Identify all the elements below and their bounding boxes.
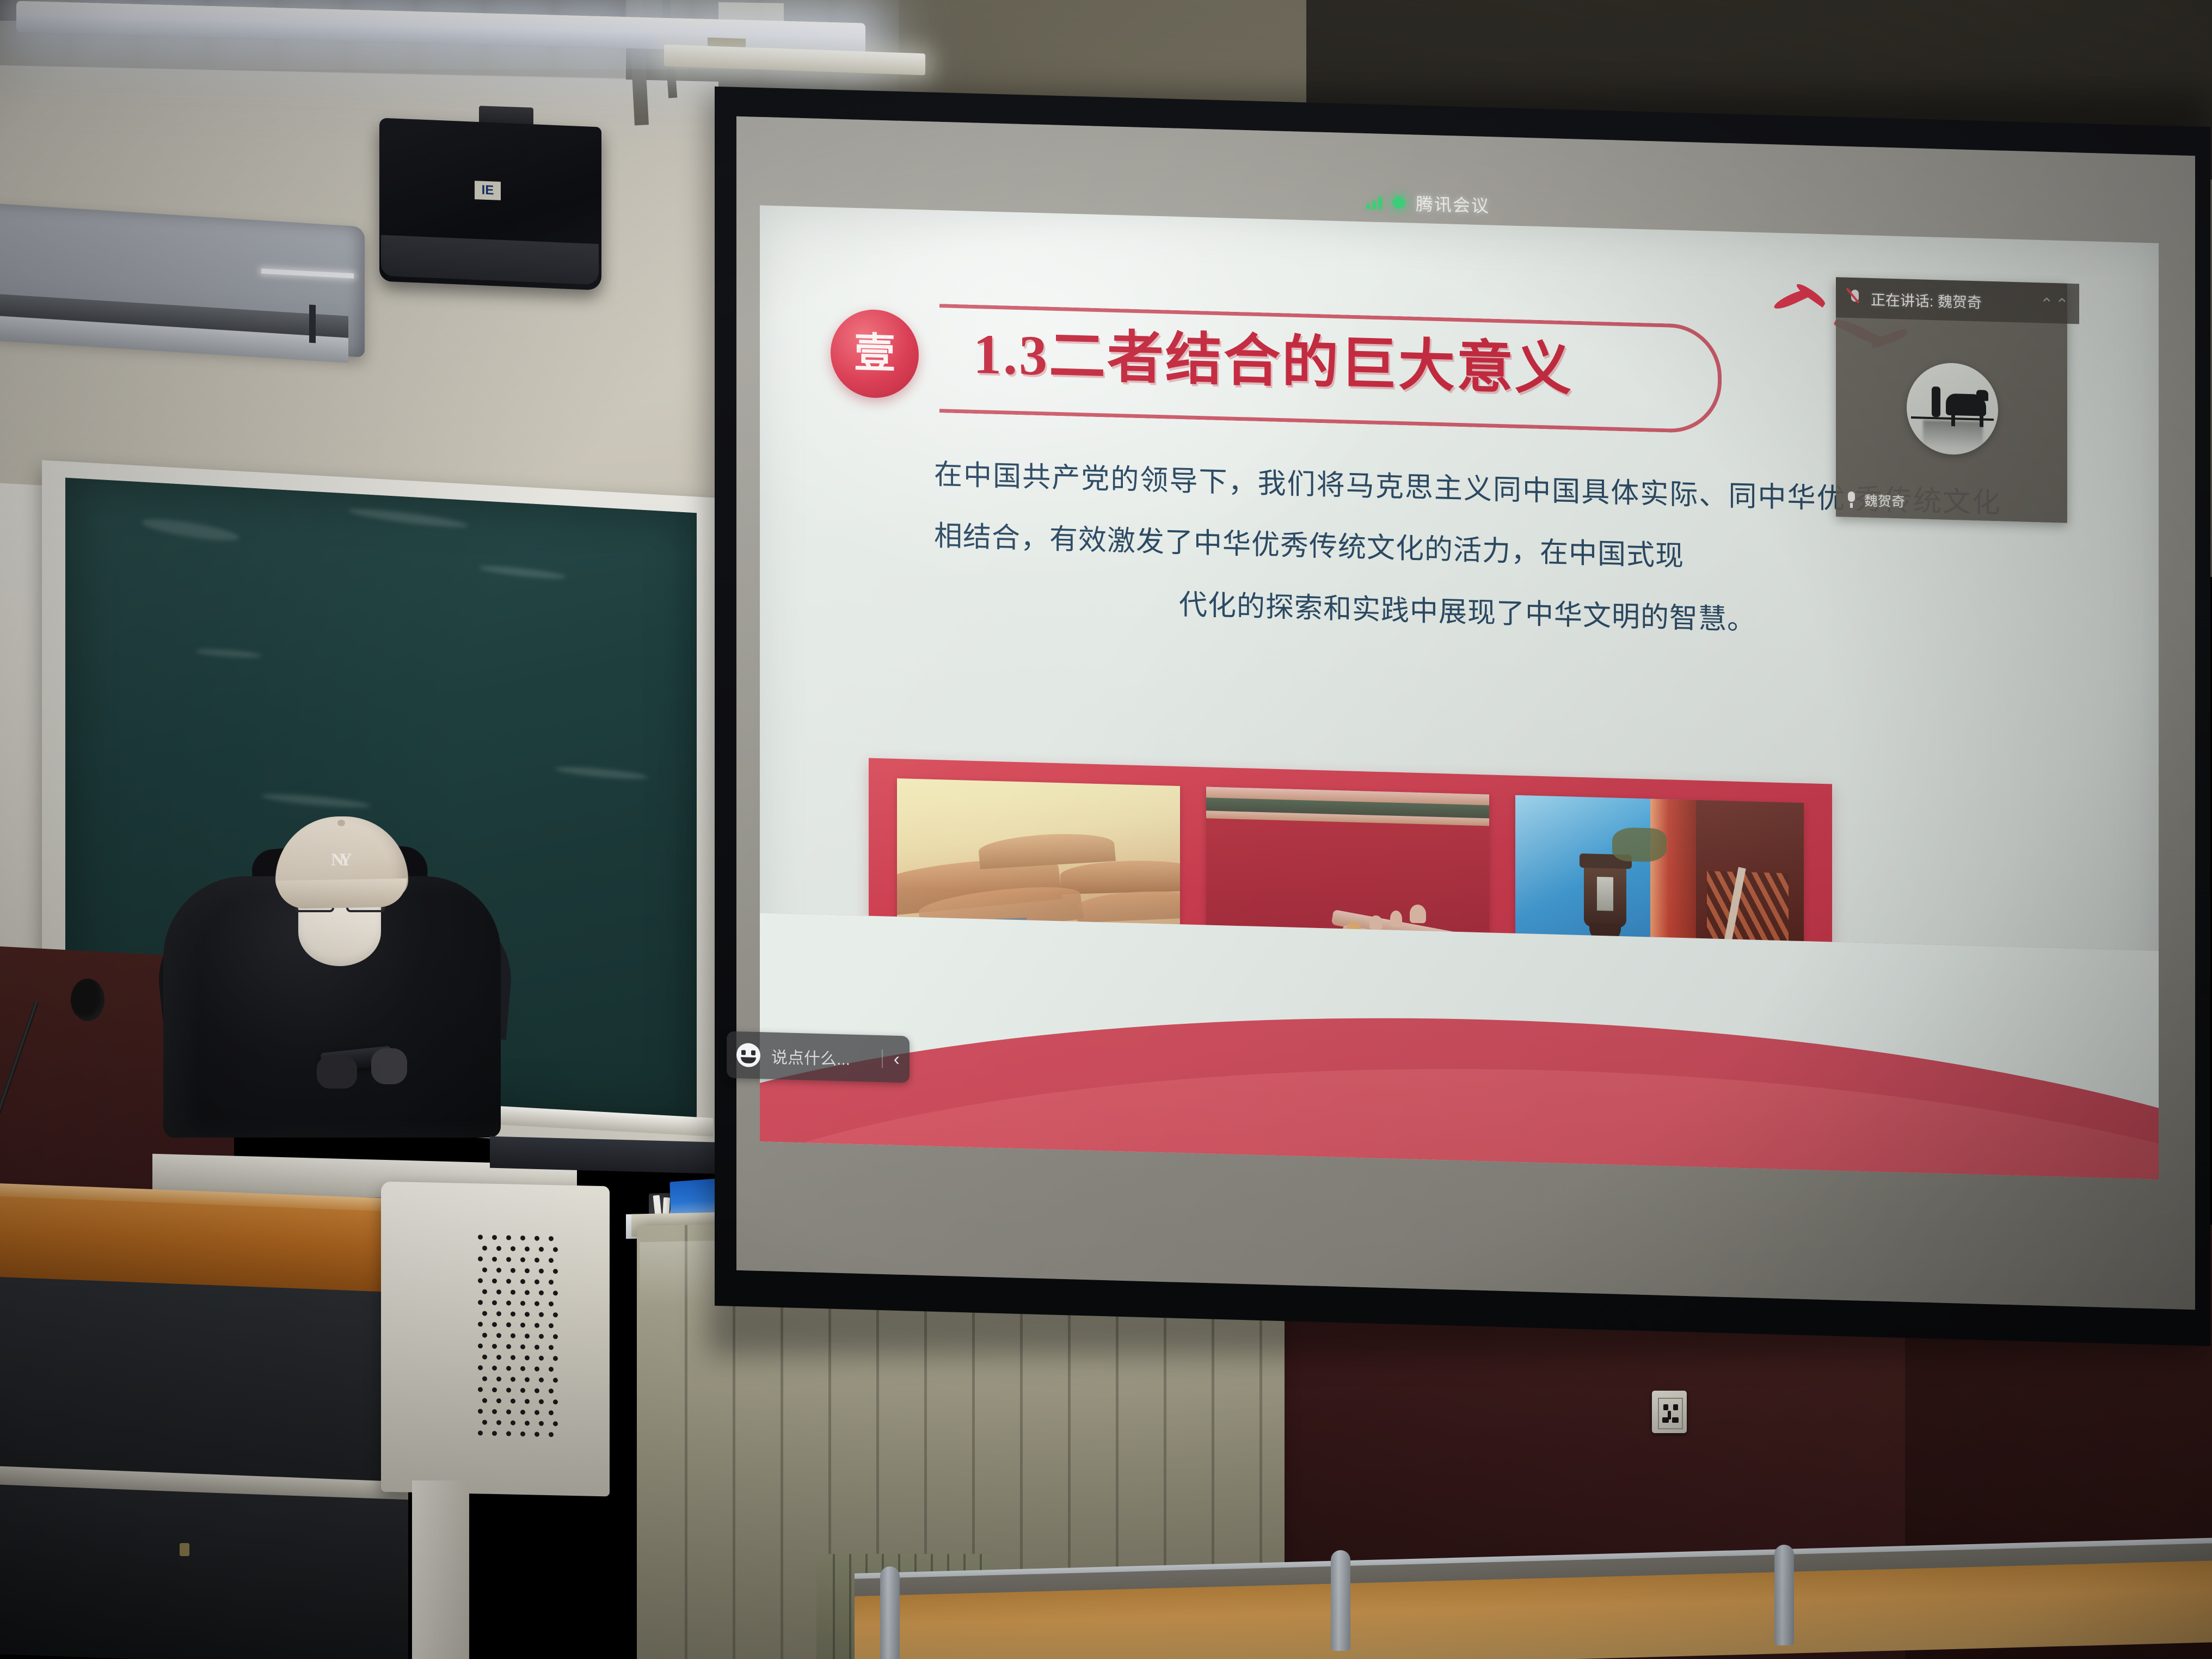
- grille-hole: [478, 1365, 483, 1370]
- grille-hole: [482, 1420, 487, 1424]
- grille-hole: [534, 1323, 539, 1328]
- grille-hole: [553, 1334, 558, 1339]
- grille-hole: [511, 1334, 515, 1338]
- grille-hole: [511, 1312, 515, 1317]
- person-at-lectern: NY: [158, 751, 506, 1132]
- participant-video-panel[interactable]: 正在讲话: 魏贺奇 ⌃⌃ 魏贺奇: [1836, 277, 2067, 523]
- outlet-slot: [1662, 1417, 1669, 1423]
- slide-wave-decoration: [760, 913, 2159, 1179]
- grille-hole: [478, 1300, 483, 1305]
- cap-button: [337, 820, 345, 826]
- grille-hole: [520, 1236, 525, 1240]
- mic-muted-icon: [1848, 288, 1862, 308]
- air-conditioner-notch: [309, 305, 316, 343]
- grille-hole: [520, 1366, 525, 1371]
- grille-hole: [506, 1300, 511, 1305]
- grille-hole: [496, 1311, 501, 1316]
- grille-hole: [549, 1432, 554, 1437]
- grille-hole: [511, 1246, 515, 1251]
- microphone-windscreen: [71, 979, 105, 1021]
- outlet-slot: [1673, 1404, 1678, 1410]
- grille-hole: [525, 1399, 530, 1404]
- grille-hole: [553, 1378, 558, 1382]
- grille-hole: [553, 1269, 558, 1274]
- seat-divider: [1774, 1545, 1794, 1645]
- grille-hole: [539, 1378, 544, 1382]
- grille-hole: [506, 1344, 511, 1349]
- avatar-reflection: [1923, 420, 1983, 450]
- grille-hole: [553, 1399, 558, 1404]
- grille-hole: [506, 1257, 511, 1262]
- grille-hole: [553, 1356, 558, 1361]
- speaker-badge-label: IE: [482, 184, 494, 198]
- grille-hole: [520, 1410, 525, 1415]
- grille-hole: [534, 1236, 539, 1241]
- grille-hole: [478, 1430, 483, 1435]
- body-line-3: 代化的探索和实践中展现了中华文明的智慧。: [934, 568, 2001, 658]
- grille-hole: [525, 1421, 530, 1425]
- grille-hole: [496, 1246, 501, 1251]
- speaker-badge: IE: [475, 181, 501, 200]
- grille-hole: [496, 1289, 501, 1294]
- grille-hole: [549, 1367, 554, 1372]
- grille-hole: [506, 1322, 511, 1327]
- signal-bars-icon: [1366, 194, 1382, 210]
- grille-hole: [534, 1345, 539, 1350]
- grille-hole: [549, 1345, 554, 1350]
- grille-hole: [482, 1289, 487, 1294]
- chevron-left-icon[interactable]: ‹: [894, 1050, 900, 1068]
- grille-hole: [492, 1322, 497, 1327]
- desk-slat: [833, 1554, 835, 1659]
- grille-hole: [520, 1323, 525, 1328]
- grille-hole: [482, 1332, 487, 1337]
- chalk-smudge: [348, 506, 469, 531]
- grille-hole: [496, 1268, 501, 1273]
- grille-hole: [506, 1366, 511, 1371]
- grille-hole: [553, 1291, 558, 1295]
- grille-hole: [506, 1387, 511, 1392]
- grille-hole: [525, 1355, 530, 1360]
- grille-hole: [534, 1301, 539, 1306]
- grille-hole: [482, 1354, 487, 1359]
- grille-hole: [492, 1300, 497, 1305]
- grille-hole: [549, 1280, 554, 1285]
- grille-hole: [478, 1234, 483, 1239]
- grille-hole: [549, 1301, 554, 1306]
- cabinet-keyhole: [180, 1543, 189, 1556]
- grille-hole: [539, 1421, 544, 1426]
- console-speaker-grille: [478, 1234, 565, 1443]
- outlet-slot: [1672, 1417, 1679, 1423]
- grille-hole: [520, 1279, 525, 1284]
- grille-hole: [525, 1268, 530, 1273]
- recording-status-dot: [1393, 196, 1405, 209]
- grille-hole: [506, 1409, 511, 1414]
- mic-icon: [1846, 491, 1857, 508]
- grille-hole: [482, 1267, 487, 1272]
- grille-hole: [478, 1322, 483, 1326]
- grille-hole: [539, 1334, 544, 1339]
- grille-hole: [525, 1290, 530, 1295]
- grille-hole: [520, 1301, 525, 1306]
- grille-hole: [549, 1388, 554, 1393]
- grille-hole: [511, 1290, 515, 1295]
- chalk-smudge: [555, 765, 648, 781]
- grille-hole: [492, 1431, 497, 1436]
- grille-hole: [534, 1388, 539, 1393]
- grille-hole: [534, 1432, 539, 1437]
- seat-divider: [880, 1566, 900, 1659]
- grille-hole: [496, 1398, 501, 1403]
- grille-hole: [511, 1268, 515, 1273]
- chalk-smudge: [196, 648, 261, 659]
- grille-hole: [520, 1257, 525, 1262]
- avatar-figure: [1932, 386, 1940, 417]
- grille-hole: [482, 1311, 487, 1316]
- grille-hole: [492, 1344, 497, 1349]
- meeting-chat-bar[interactable]: 说点什么... ‹: [727, 1031, 910, 1083]
- panel-menu-icon[interactable]: ⌃⌃: [2040, 294, 2070, 315]
- tencent-meeting-status-bar: 腾讯会议: [1366, 187, 1551, 221]
- classroom-scene: IE NY: [0, 0, 2212, 1659]
- app-name-label: 腾讯会议: [1416, 191, 1490, 218]
- grille-hole: [539, 1247, 544, 1252]
- grille-hole: [478, 1343, 483, 1348]
- grille-hole: [525, 1246, 530, 1251]
- emoji-face-icon[interactable]: [736, 1043, 760, 1067]
- grille-hole: [506, 1279, 511, 1283]
- cap-brim: [276, 878, 408, 909]
- grille-hole: [553, 1312, 558, 1317]
- grille-hole: [520, 1388, 525, 1393]
- hand-left: [317, 1056, 357, 1089]
- grille-hole: [539, 1312, 544, 1317]
- grille-hole: [549, 1410, 554, 1415]
- grille-hole: [506, 1431, 511, 1436]
- grille-hole: [520, 1431, 525, 1436]
- desk-slat: [849, 1554, 851, 1659]
- chat-input[interactable]: 说点什么...: [771, 1044, 871, 1071]
- grille-hole: [511, 1399, 515, 1404]
- grille-hole: [478, 1387, 483, 1392]
- lectern-lower-body: [0, 1485, 408, 1659]
- grille-hole: [496, 1420, 501, 1425]
- grille-hole: [534, 1258, 539, 1263]
- grille-hole: [478, 1256, 483, 1261]
- grille-hole: [506, 1235, 511, 1240]
- grille-hole: [496, 1355, 501, 1360]
- cap-logo: NY: [331, 851, 353, 871]
- grille-hole: [539, 1269, 544, 1274]
- avatar-horse-head: [1976, 390, 1988, 401]
- grille-hole: [553, 1247, 558, 1252]
- grille-hole: [478, 1409, 483, 1414]
- speaking-banner: 正在讲话: 魏贺奇 ⌃⌃: [1836, 277, 2079, 324]
- grille-hole: [525, 1334, 530, 1338]
- grille-hole: [478, 1278, 483, 1283]
- grille-hole: [525, 1377, 530, 1382]
- grille-hole: [539, 1356, 544, 1361]
- grille-hole: [492, 1366, 497, 1371]
- hand-right: [371, 1048, 407, 1084]
- participant-name-row: 魏贺奇: [1846, 490, 1905, 511]
- chat-divider: [882, 1049, 883, 1068]
- grille-hole: [534, 1367, 539, 1372]
- chalk-smudge: [141, 515, 240, 545]
- grille-hole: [534, 1280, 539, 1285]
- grille-hole: [534, 1410, 539, 1415]
- participant-name: 魏贺奇: [1864, 490, 1905, 511]
- grille-hole: [511, 1377, 515, 1382]
- grille-hole: [482, 1376, 487, 1381]
- grille-hole: [492, 1387, 497, 1392]
- grille-hole: [520, 1344, 525, 1349]
- grille-hole: [525, 1312, 530, 1317]
- grille-hole: [553, 1421, 558, 1426]
- grille-hole: [496, 1333, 501, 1338]
- grille-hole: [549, 1236, 554, 1241]
- outlet-slot: [1663, 1404, 1668, 1410]
- grille-hole: [496, 1377, 501, 1381]
- body-line-1: 在中国共产党的领导下，我们将马克思主义同中国具体实际、同中华优: [934, 459, 1846, 515]
- console-leg: [412, 1480, 469, 1659]
- chalk-smudge: [479, 564, 567, 581]
- speaking-label: 正在讲话: 魏贺奇: [1871, 287, 1982, 312]
- seat-divider: [1331, 1550, 1350, 1651]
- grille-hole: [539, 1399, 544, 1404]
- section-number-char: 壹: [854, 333, 895, 375]
- grille-hole: [492, 1409, 497, 1414]
- grille-hole: [482, 1245, 487, 1250]
- grille-hole: [539, 1291, 544, 1295]
- slide-title-group: 1.3二者结合的巨大意义: [939, 304, 1718, 426]
- grille-hole: [549, 1323, 554, 1328]
- horse-avatar-icon: [1907, 362, 1998, 456]
- grille-hole: [549, 1258, 554, 1263]
- grille-hole: [511, 1421, 515, 1425]
- grille-hole: [492, 1279, 497, 1283]
- grille-hole: [511, 1355, 515, 1360]
- grille-hole: [492, 1257, 497, 1262]
- grille-hole: [492, 1235, 497, 1240]
- grille-hole: [482, 1398, 487, 1403]
